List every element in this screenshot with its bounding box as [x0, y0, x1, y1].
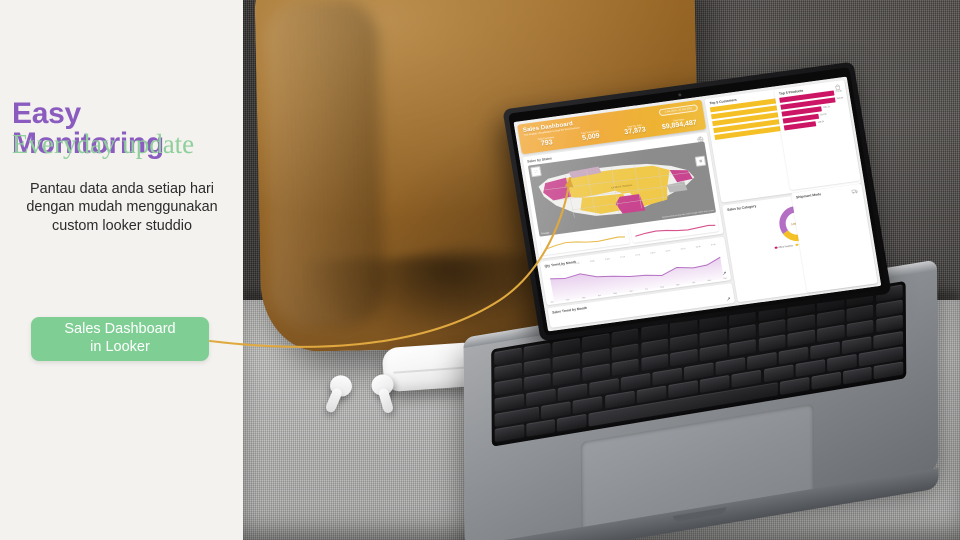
keyboard-key[interactable] [495, 424, 524, 442]
keyboard-key[interactable] [843, 367, 872, 385]
bar-value: 148.9k [818, 121, 825, 124]
product-bag-icon [834, 83, 842, 92]
map-fullscreen-icon[interactable]: ⊞ [695, 155, 707, 166]
axis-tick: May [613, 293, 617, 295]
axis-tick: Oct [692, 282, 695, 284]
macbook-laptop: Sales Dashboard The Analytic Visualizati… [243, 0, 960, 540]
shipment-mode-card[interactable]: Shipment Mode [791, 183, 877, 293]
webcam-icon [678, 93, 681, 96]
kpi-total-sales: Total Sales $9,894,487 [657, 117, 701, 132]
keyboard-key[interactable] [557, 414, 586, 432]
bar-value: 252.8k [836, 98, 843, 101]
bar-value: 164.4k [820, 114, 827, 117]
laptop-lid: Sales Dashboard The Analytic Visualizati… [502, 62, 891, 342]
keyboard-key[interactable] [874, 361, 903, 379]
keyboard-key[interactable] [526, 419, 555, 437]
axis-tick: Apr [598, 295, 601, 297]
axis-tick: Dec [724, 278, 728, 280]
text-panel: Easy Monitoring Everyday update Pantau d… [0, 0, 243, 540]
legend-item-office-supplies: Office Supplies [775, 244, 793, 249]
kpi-total-transactions: Total Transactions 5,009 [569, 129, 613, 144]
shipment-truck-icon [851, 187, 859, 196]
axis-tick: Jan [550, 301, 554, 303]
axis-tick: Nov [708, 280, 712, 282]
laptop-screen: Sales Dashboard The Analytic Visualizati… [514, 77, 882, 332]
keyboard-key[interactable] [780, 377, 809, 395]
kpi-total-qty-sold: Total Qty Sold 37,873 [613, 123, 657, 138]
photo-scene: Sales Dashboard The Analytic Visualizati… [243, 0, 960, 540]
axis-tick: Jul [645, 288, 648, 290]
axis-tick: Sep [676, 284, 680, 286]
keyboard-key[interactable] [811, 372, 840, 390]
cta-line-2: in Looker [64, 339, 175, 357]
axis-tick: Feb [566, 299, 570, 301]
body-copy: Pantau data anda setiap hari dengan muda… [8, 180, 236, 235]
axis-tick: Aug [660, 286, 664, 288]
axis-tick: Mar [582, 297, 586, 299]
trend-up-icon: ↗ [722, 271, 727, 277]
top-5-products-card[interactable]: Top 5 Products 271.3k252.8k185.1k164.4k1… [774, 80, 860, 190]
looker-sales-dashboard[interactable]: Sales Dashboard The Analytic Visualizati… [514, 77, 882, 332]
sales-dashboard-cta-button[interactable]: Sales Dashboard in Looker [31, 317, 209, 361]
axis-tick: Jun [629, 291, 633, 293]
page-subtitle: Everyday update [12, 130, 236, 158]
products-bar-list: 271.3k252.8k185.1k164.4k148.9k [780, 89, 847, 130]
bar [784, 121, 816, 130]
trend-up-icon: ↗ [726, 296, 731, 302]
kpi-total-customers: Total Customers 793 [525, 135, 569, 150]
slide-canvas: Sales Dashboard The Analytic Visualizati… [0, 0, 960, 540]
cta-line-1: Sales Dashboard [64, 321, 175, 339]
map-zoom-icon[interactable]: ⛶ [530, 166, 542, 177]
bar-value: 185.1k [823, 106, 830, 109]
card-title: Shipment Mode [796, 187, 859, 199]
